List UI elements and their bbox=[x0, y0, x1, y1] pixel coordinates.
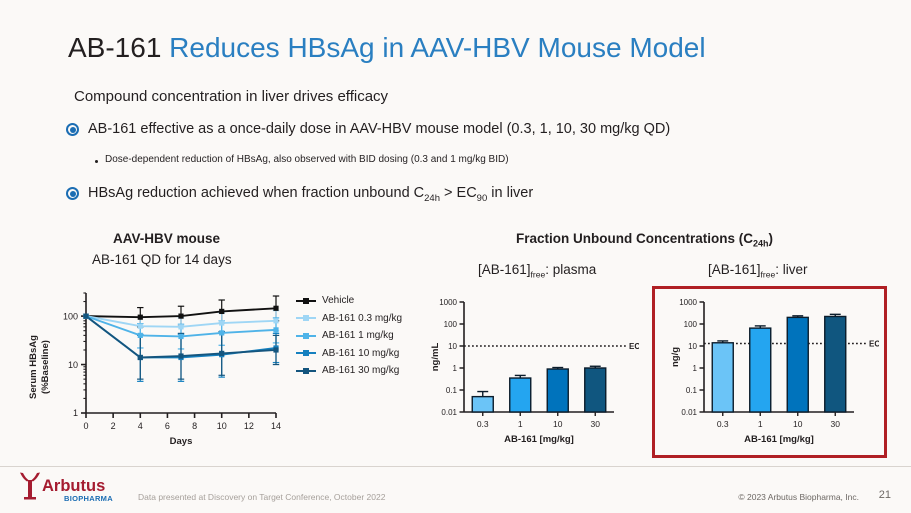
left-panel-subheading: AB-161 QD for 14 days bbox=[92, 252, 232, 267]
bar bbox=[787, 317, 808, 412]
bullet-item-1: AB-161 effective as a once-daily dose in… bbox=[66, 120, 670, 138]
legend-marker-icon bbox=[296, 331, 316, 341]
footer-note: Data presented at Discovery on Target Co… bbox=[138, 492, 385, 502]
page-number: 21 bbox=[879, 489, 891, 501]
y-axis-label: ng/mL bbox=[430, 343, 441, 372]
svg-text:1: 1 bbox=[518, 419, 523, 429]
page-title: AB-161 Reduces HBsAg in AAV-HBV Mouse Mo… bbox=[68, 32, 706, 64]
svg-text:14: 14 bbox=[271, 421, 281, 431]
svg-text:1000: 1000 bbox=[439, 298, 457, 307]
arbutus-logo: Arbutus BIOPHARMA bbox=[14, 470, 134, 506]
data-point bbox=[138, 315, 143, 320]
y-axis-label: ng/g bbox=[670, 347, 681, 367]
bar bbox=[750, 328, 771, 412]
data-point bbox=[178, 334, 183, 339]
svg-text:0.01: 0.01 bbox=[441, 408, 457, 417]
bullet-2-sub2: 90 bbox=[477, 193, 488, 204]
svg-text:0.1: 0.1 bbox=[686, 386, 698, 395]
svg-text:1: 1 bbox=[758, 419, 763, 429]
svg-text:8: 8 bbox=[192, 421, 197, 431]
data-point bbox=[178, 353, 183, 358]
ec90-threshold-label: EC90 bbox=[869, 339, 879, 350]
data-point bbox=[273, 327, 278, 332]
svg-text:10: 10 bbox=[448, 342, 457, 351]
svg-text:Days: Days bbox=[170, 436, 193, 447]
legend-marker-icon bbox=[296, 313, 316, 323]
data-point bbox=[273, 318, 278, 323]
bar bbox=[510, 378, 531, 412]
svg-text:1: 1 bbox=[693, 364, 698, 373]
plasma-bar-chart: 0.010.11101001000ng/mLEC900.311030AB-161… bbox=[424, 292, 639, 457]
svg-text:1000: 1000 bbox=[679, 298, 697, 307]
sub-bullet-item: Dose-dependent reduction of HBsAg, also … bbox=[95, 154, 509, 165]
svg-text:30: 30 bbox=[591, 419, 601, 429]
legend-label: Vehicle bbox=[322, 295, 354, 306]
svg-text:6: 6 bbox=[165, 421, 170, 431]
svg-text:10: 10 bbox=[68, 360, 78, 370]
title-part-blue: Reduces HBsAg in AAV-HBV Mouse Model bbox=[169, 32, 705, 63]
footer-copyright: © 2023 Arbutus Biopharma, Inc. bbox=[738, 492, 859, 502]
bar bbox=[585, 368, 606, 412]
data-point bbox=[138, 333, 143, 338]
svg-text:0.1: 0.1 bbox=[446, 386, 458, 395]
sub-bullet-text: Dose-dependent reduction of HBsAg, also … bbox=[105, 154, 509, 165]
svg-text:0.3: 0.3 bbox=[717, 419, 729, 429]
data-point bbox=[273, 347, 278, 352]
logo-subtitle: BIOPHARMA bbox=[64, 494, 113, 503]
plasma-label-sub: free bbox=[531, 270, 546, 280]
legend-item-3: AB-161 10 mg/kg bbox=[296, 345, 402, 363]
svg-text:100: 100 bbox=[63, 311, 78, 321]
data-point bbox=[219, 351, 224, 356]
bullet-2-post: in liver bbox=[487, 185, 533, 201]
svg-text:0.3: 0.3 bbox=[477, 419, 489, 429]
legend-label: AB-161 0.3 mg/kg bbox=[322, 313, 402, 324]
legend-item-2: AB-161 1 mg/kg bbox=[296, 327, 402, 345]
svg-text:0: 0 bbox=[83, 421, 88, 431]
bar bbox=[712, 343, 733, 412]
svg-text:AB-161 [mg/kg]: AB-161 [mg/kg] bbox=[504, 434, 574, 445]
svg-text:0.01: 0.01 bbox=[681, 408, 697, 417]
legend-marker-icon bbox=[296, 366, 316, 376]
y-axis-label: Serum HBsAg bbox=[28, 335, 39, 399]
svg-text:30: 30 bbox=[831, 419, 841, 429]
hbsag-timecourse-chart: 11010002468101214DaysSerum HBsAg(%Baseli… bbox=[20, 285, 290, 455]
bullet-ring-icon bbox=[66, 187, 79, 200]
legend-marker-icon bbox=[296, 348, 316, 358]
svg-text:10: 10 bbox=[688, 342, 697, 351]
liver-label-sub: free bbox=[761, 270, 776, 280]
svg-text:AB-161 [mg/kg]: AB-161 [mg/kg] bbox=[744, 434, 814, 445]
slide: AB-161 Reduces HBsAg in AAV-HBV Mouse Mo… bbox=[0, 0, 911, 513]
data-point bbox=[138, 324, 143, 329]
bullet-text-1: AB-161 effective as a once-daily dose in… bbox=[88, 120, 670, 138]
liver-panel-label: [AB-161]free: liver bbox=[708, 262, 807, 280]
svg-text:4: 4 bbox=[138, 421, 143, 431]
left-panel-heading: AAV-HBV mouse bbox=[113, 231, 220, 246]
svg-text:12: 12 bbox=[244, 421, 254, 431]
subtitle: Compound concentration in liver drives e… bbox=[74, 88, 388, 105]
right-panel-heading: Fraction Unbound Concentrations (C24h) bbox=[516, 231, 773, 249]
bullet-2-mid: > EC bbox=[440, 185, 477, 201]
line-chart-canvas: 11010002468101214DaysSerum HBsAg(%Baseli… bbox=[20, 285, 290, 455]
legend-marker-icon bbox=[296, 296, 316, 306]
bullet-2-sub1: 24h bbox=[424, 193, 440, 204]
bullet-ring-icon bbox=[66, 123, 79, 136]
svg-text:10: 10 bbox=[217, 421, 227, 431]
data-point bbox=[219, 309, 224, 314]
logo-wordmark: Arbutus bbox=[42, 477, 105, 495]
y-axis-label-2: (%Baseline) bbox=[40, 340, 51, 394]
data-point bbox=[219, 330, 224, 335]
svg-text:2: 2 bbox=[111, 421, 116, 431]
bar-chart-canvas: 0.010.11101001000ng/gEC900.311030AB-161 … bbox=[664, 292, 879, 457]
title-part-dark: AB-161 bbox=[68, 32, 169, 63]
data-point bbox=[138, 355, 143, 360]
liver-label-pre: [AB-161] bbox=[708, 262, 761, 277]
legend-item-0: Vehicle bbox=[296, 292, 402, 310]
plasma-label-pre: [AB-161] bbox=[478, 262, 531, 277]
liver-label-post: : liver bbox=[775, 262, 807, 277]
plasma-label-post: : plasma bbox=[545, 262, 596, 277]
liver-bar-chart: 0.010.11101001000ng/gEC900.311030AB-161 … bbox=[664, 292, 879, 457]
right-heading-post: ) bbox=[769, 231, 774, 246]
bar bbox=[547, 369, 568, 412]
legend-label: AB-161 30 mg/kg bbox=[322, 365, 399, 376]
bullet-text-2: HBsAg reduction achieved when fraction u… bbox=[88, 184, 533, 205]
data-point bbox=[219, 320, 224, 325]
bar-chart-canvas: 0.010.11101001000ng/mLEC900.311030AB-161… bbox=[424, 292, 639, 457]
ec90-threshold-label: EC90 bbox=[629, 342, 639, 353]
legend-label: AB-161 10 mg/kg bbox=[322, 348, 399, 359]
footer-divider bbox=[0, 466, 911, 467]
line-chart-legend: VehicleAB-161 0.3 mg/kgAB-161 1 mg/kgAB-… bbox=[296, 292, 402, 380]
data-point bbox=[178, 324, 183, 329]
data-point bbox=[273, 306, 278, 311]
bullet-2-pre: HBsAg reduction achieved when fraction u… bbox=[88, 185, 424, 201]
data-point bbox=[83, 314, 88, 319]
svg-text:1: 1 bbox=[73, 408, 78, 418]
bar bbox=[472, 397, 493, 412]
svg-text:10: 10 bbox=[553, 419, 563, 429]
svg-text:1: 1 bbox=[453, 364, 458, 373]
legend-item-1: AB-161 0.3 mg/kg bbox=[296, 310, 402, 328]
right-heading-sub: 24h bbox=[753, 239, 769, 249]
bullet-item-2: HBsAg reduction achieved when fraction u… bbox=[66, 184, 533, 205]
bullet-dot-icon bbox=[95, 160, 98, 163]
data-point bbox=[178, 314, 183, 319]
plasma-panel-label: [AB-161]free: plasma bbox=[478, 262, 596, 280]
svg-text:10: 10 bbox=[793, 419, 803, 429]
legend-label: AB-161 1 mg/kg bbox=[322, 330, 394, 341]
svg-text:100: 100 bbox=[684, 320, 698, 329]
svg-text:100: 100 bbox=[444, 320, 458, 329]
bar bbox=[825, 316, 846, 412]
legend-item-4: AB-161 30 mg/kg bbox=[296, 362, 402, 380]
right-heading-pre: Fraction Unbound Concentrations (C bbox=[516, 231, 753, 246]
